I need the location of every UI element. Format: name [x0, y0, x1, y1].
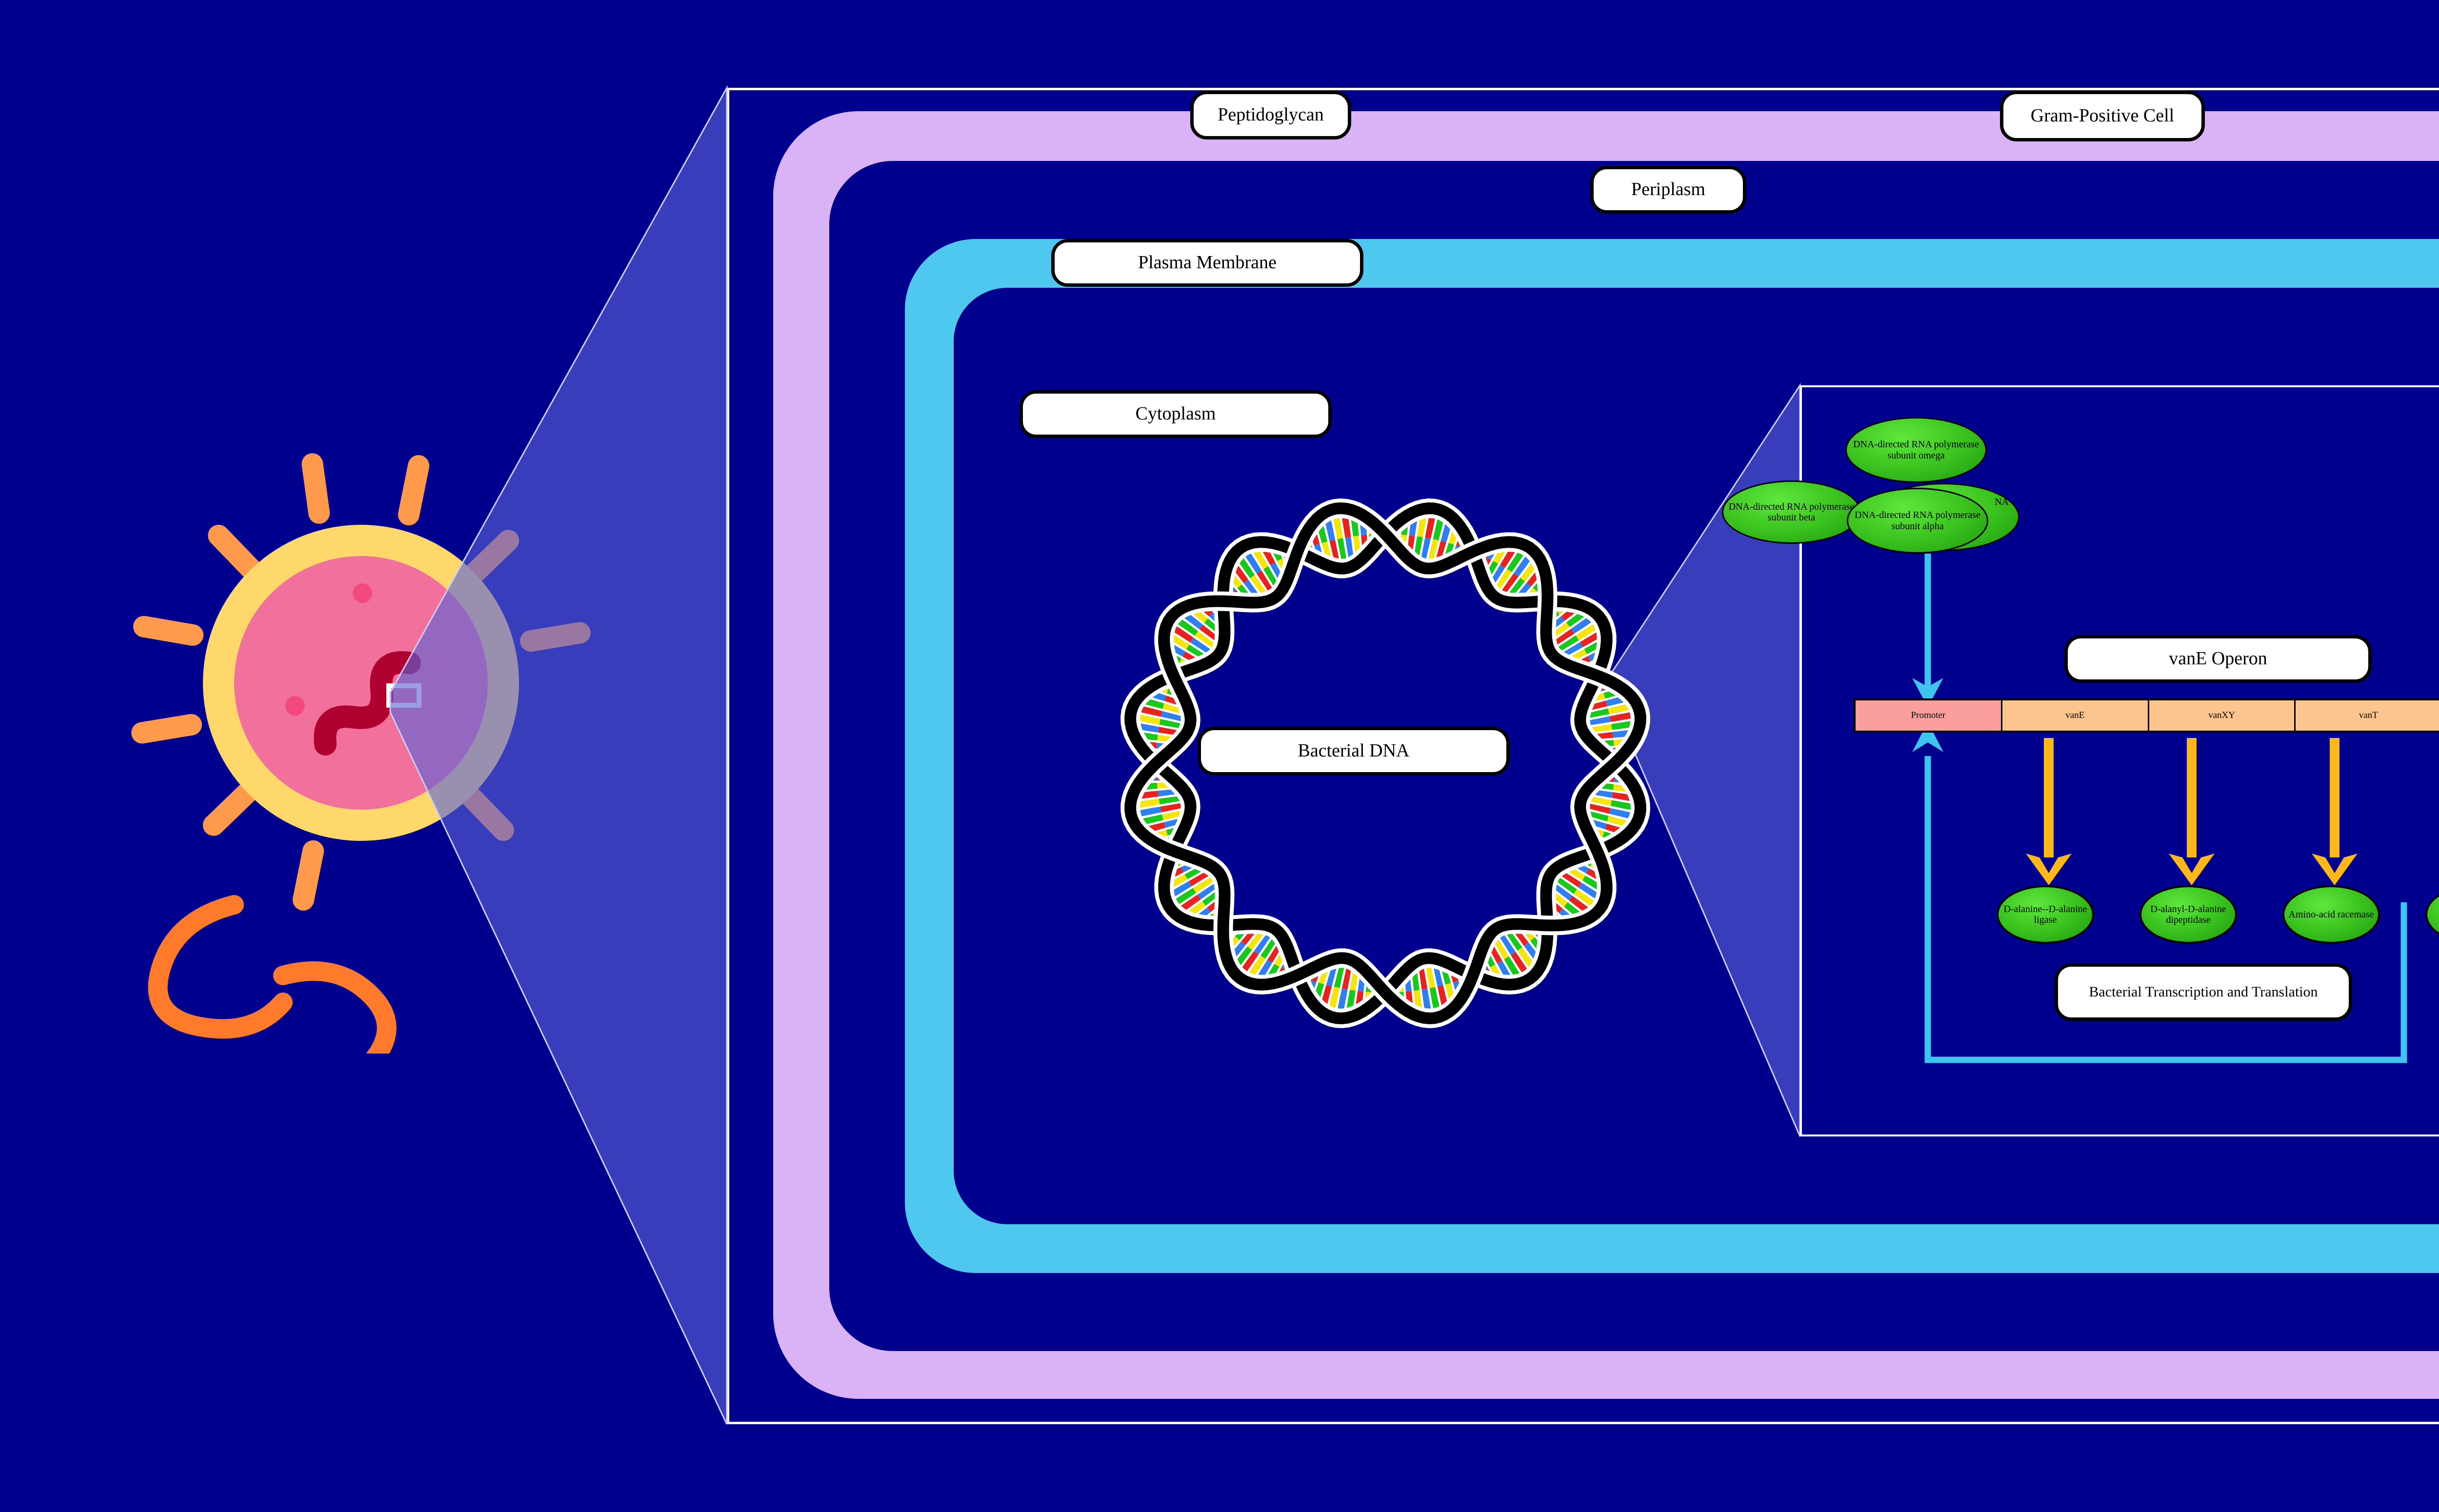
label-bacterial-dna: Bacterial DNA [1198, 727, 1510, 776]
rnap-subunit-alpha: DNA-directed RNA polymerase subunit alph… [1847, 488, 1988, 554]
label-peptidoglycan: Peptidoglycan [1190, 91, 1351, 139]
operon-gene-bar: PromotervanEvanXYvanTvanRvanS [1854, 698, 2439, 733]
bacterium-illustration [88, 410, 663, 1054]
flagella-icon [158, 905, 387, 1054]
operon-segment-vant[interactable]: vanT [2296, 700, 2439, 731]
protein-d-ala-d-ala-ligase: D-alanine--D-alanine ligase [1997, 885, 2094, 944]
operon-segment-promoter[interactable]: Promoter [1856, 700, 2002, 731]
label-vane-operon: vanE Operon [2064, 635, 2372, 683]
label-periplasm: Periplasm [1590, 166, 1746, 214]
label-plasma-membrane: Plasma Membrane [1051, 239, 1363, 287]
operon-segment-vane[interactable]: vanE [2002, 700, 2149, 731]
label-gram-positive-cell: Gram-Positive Cell [2000, 91, 2205, 141]
label-cytoplasm: Cytoplasm [1020, 390, 1332, 438]
operon-segment-label: vanE [2065, 710, 2084, 721]
operon-segment-vanxy[interactable]: vanXY [2149, 700, 2296, 731]
operon-segment-label: vanT [2359, 710, 2378, 721]
operon-segment-label: vanXY [2208, 710, 2235, 721]
protein-d-ala-d-ala-dipeptidase: D-alanyl-D-alanine dipeptidase [2139, 885, 2237, 944]
operon-segment-label: Promoter [1911, 710, 1946, 721]
gene-product-arrows [2026, 738, 2439, 885]
protein-amino-acid-racemase: Amino-acid racemase [2282, 885, 2380, 944]
label-bacterial-transcription-translation: Bacterial Transcription and Translation [2055, 963, 2352, 1021]
